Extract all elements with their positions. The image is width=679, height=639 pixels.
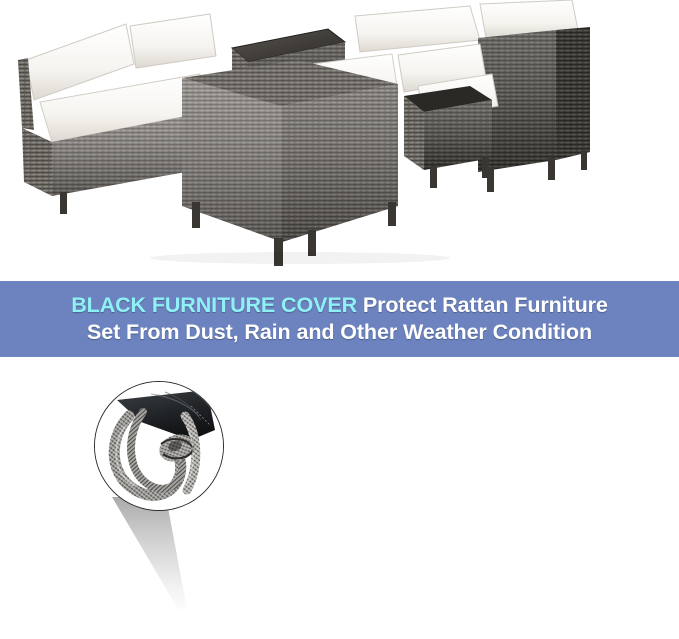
banner-line-1: BLACK FURNITURE COVER Protect Rattan Fur…	[71, 292, 608, 319]
feature-detail-section: Rope hem with toggle to allows adjustmen…	[0, 357, 679, 639]
banner-headline-rest: Protect Rattan Furniture	[363, 293, 608, 317]
promo-banner: BLACK FURNITURE COVER Protect Rattan Fur…	[0, 281, 679, 357]
rattan-sofa-set-illustration	[0, 0, 679, 281]
rope-toggle-callout-circle	[94, 381, 224, 511]
banner-line-2: Set From Dust, Rain and Other Weather Co…	[87, 319, 592, 346]
rope-toggle-detail-illustration	[95, 382, 223, 510]
product-infographic: BLACK FURNITURE COVER Protect Rattan Fur…	[0, 0, 679, 639]
callout-pointer	[0, 357, 679, 639]
rattan-furniture-photo	[0, 0, 679, 281]
banner-headline-highlight: BLACK FURNITURE COVER	[71, 293, 357, 317]
